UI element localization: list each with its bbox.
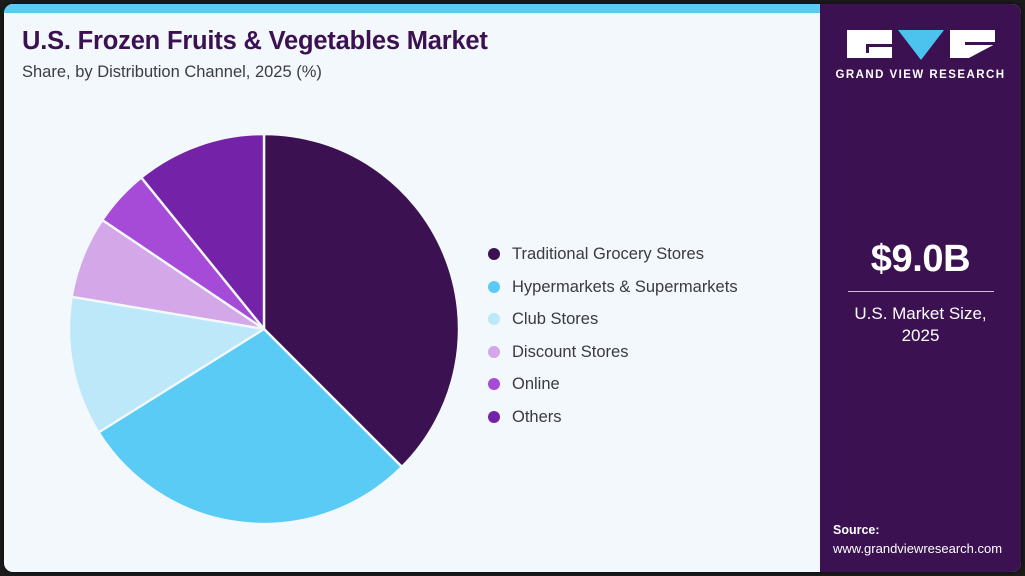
market-size-value: $9.0B <box>820 240 1021 278</box>
logo-marks <box>820 30 1021 60</box>
legend-color-swatch-icon <box>488 346 500 358</box>
stat-divider <box>848 291 994 292</box>
chart-header: U.S. Frozen Fruits & Vegetables Market S… <box>22 26 802 84</box>
legend-color-swatch-icon <box>488 313 500 325</box>
legend-item[interactable]: Discount Stores <box>488 336 808 369</box>
legend-item[interactable]: Hypermarkets & Supermarkets <box>488 271 808 304</box>
source-url[interactable]: www.grandviewresearch.com <box>833 540 1021 558</box>
market-size-label: U.S. Market Size, 2025 <box>820 303 1021 348</box>
legend-color-swatch-icon <box>488 411 500 423</box>
pie-chart-svg <box>68 133 460 525</box>
top-accent-bar <box>4 4 820 13</box>
source-block: Source: www.grandviewresearch.com <box>833 522 1021 558</box>
side-panel: GRAND VIEW RESEARCH $9.0B U.S. Market Si… <box>820 4 1021 572</box>
source-title: Source: <box>833 522 1021 540</box>
main-card: U.S. Frozen Fruits & Vegetables Market S… <box>4 4 1021 572</box>
legend-item[interactable]: Online <box>488 368 808 401</box>
logo-v-triangle-icon <box>898 30 944 60</box>
legend-color-swatch-icon <box>488 378 500 390</box>
chart-legend: Traditional Grocery StoresHypermarkets &… <box>488 238 808 433</box>
legend-item[interactable]: Others <box>488 401 808 434</box>
legend-item-label: Others <box>512 409 562 426</box>
legend-item-label: Club Stores <box>512 311 598 328</box>
pie-chart <box>68 133 460 525</box>
market-size-stat: $9.0B U.S. Market Size, 2025 <box>820 240 1021 348</box>
infographic-root: U.S. Frozen Fruits & Vegetables Market S… <box>0 0 1025 576</box>
legend-color-swatch-icon <box>488 281 500 293</box>
grand-view-research-logo: GRAND VIEW RESEARCH <box>820 30 1021 81</box>
legend-item-label: Traditional Grocery Stores <box>512 246 704 263</box>
logo-g-icon <box>847 30 892 58</box>
legend-item-label: Discount Stores <box>512 344 628 361</box>
logo-wordmark: GRAND VIEW RESEARCH <box>820 69 1021 81</box>
page-title: U.S. Frozen Fruits & Vegetables Market <box>22 26 802 56</box>
legend-item-label: Online <box>512 376 560 393</box>
logo-r-icon <box>950 30 995 58</box>
legend-item[interactable]: Club Stores <box>488 303 808 336</box>
legend-item-label: Hypermarkets & Supermarkets <box>512 279 738 296</box>
page-subtitle: Share, by Distribution Channel, 2025 (%) <box>22 62 802 83</box>
legend-item[interactable]: Traditional Grocery Stores <box>488 238 808 271</box>
legend-color-swatch-icon <box>488 248 500 260</box>
